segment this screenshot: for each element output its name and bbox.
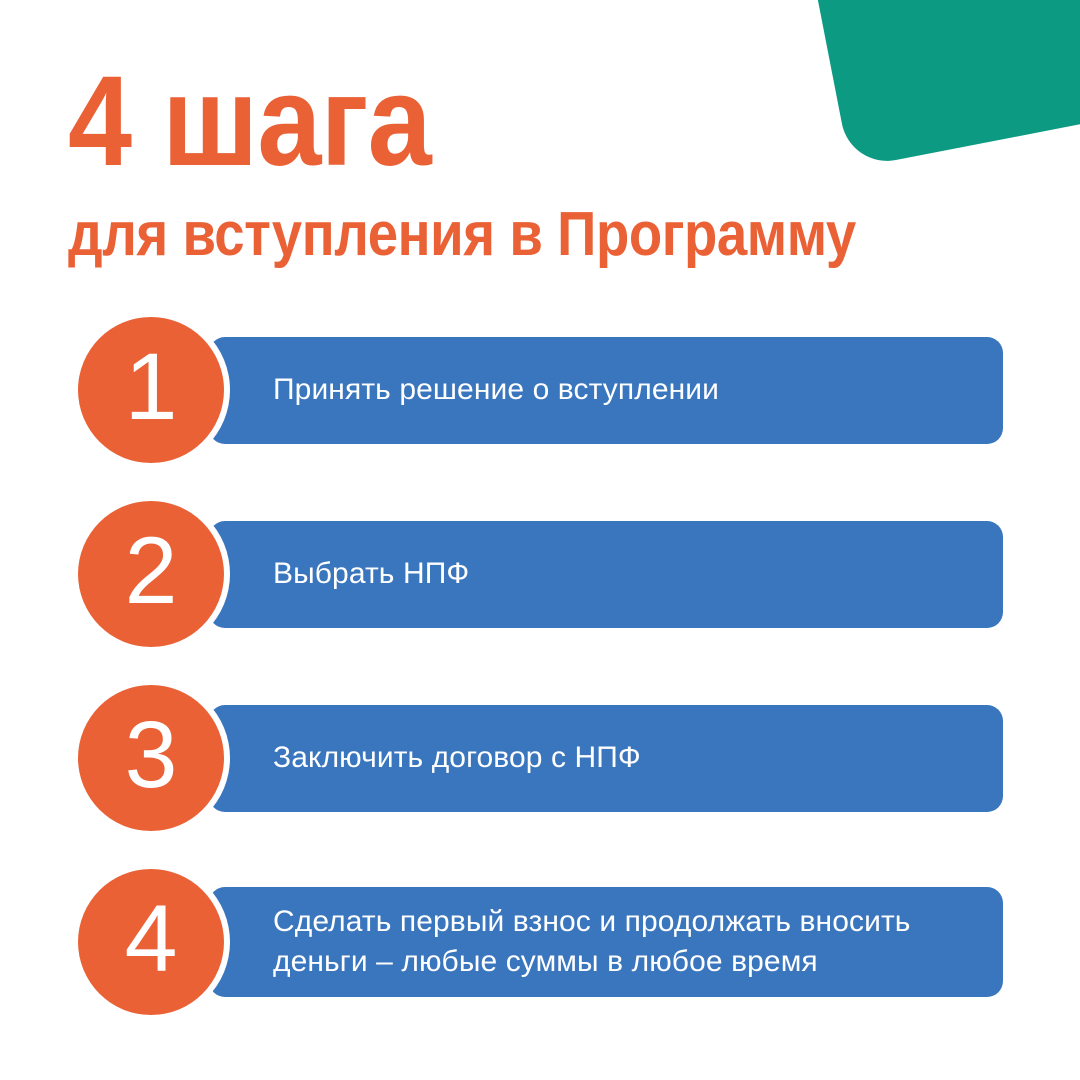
step-text-line: Выбрать НПФ [273,554,469,595]
step-bar[interactable]: Принять решение о вступлении [209,337,1003,444]
step-badge: 1 [78,317,224,463]
page-subtitle: для вступления в Программу [68,204,886,266]
step-row[interactable]: Сделать первый взнос и продолжать вносит… [0,869,1080,1053]
step-badge: 2 [78,501,224,647]
step-number: 2 [125,524,178,619]
step-badge: 4 [78,869,224,1015]
step-bar[interactable]: Заключить договор с НПФ [209,705,1003,812]
steps-list: Принять решение о вступлении 1 Выбрать Н… [0,317,1080,1053]
step-text: Сделать первый взнос и продолжать вносит… [273,902,911,983]
step-text: Выбрать НПФ [273,554,469,595]
step-number: 1 [125,340,178,435]
step-badge: 3 [78,685,224,831]
step-bar[interactable]: Выбрать НПФ [209,521,1003,628]
step-text-line: Заключить договор с НПФ [273,738,641,779]
infographic-poster: 4 шага для вступления в Программу Принят… [0,0,1080,1080]
step-text-line: Сделать первый взнос и продолжать вносит… [273,902,911,943]
step-text: Заключить договор с НПФ [273,738,641,779]
step-row[interactable]: Принять решение о вступлении 1 [0,317,1080,501]
step-bar[interactable]: Сделать первый взнос и продолжать вносит… [209,887,1003,997]
page-title: 4 шага [68,58,905,186]
headline-block: 4 шага для вступления в Программу [68,58,998,266]
step-text-line: Принять решение о вступлении [273,370,719,411]
step-number: 3 [125,708,178,803]
step-text: Принять решение о вступлении [273,370,719,411]
step-row[interactable]: Выбрать НПФ 2 [0,501,1080,685]
step-text-line: деньги – любые суммы в любое время [273,942,911,983]
step-row[interactable]: Заключить договор с НПФ 3 [0,685,1080,869]
step-number: 4 [125,892,178,987]
